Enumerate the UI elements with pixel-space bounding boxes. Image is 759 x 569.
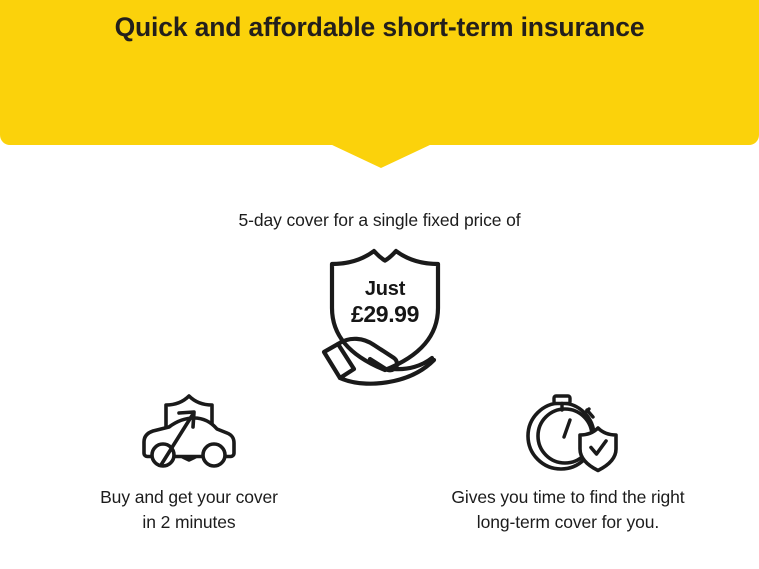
main-content: 5-day cover for a single fixed price of … (0, 145, 759, 569)
stopwatch-with-shield-check-icon (413, 385, 723, 477)
feature-left-label: Buy and get your cover in 2 minutes (34, 485, 344, 535)
hero-banner: buy Quick and affordable short-term insu… (0, 0, 759, 145)
shield-in-hand-icon (310, 248, 460, 393)
price-caption: 5-day cover for a single fixed price of (0, 210, 759, 231)
feature-item-long-term: Gives you time to find the right long-te… (413, 385, 723, 535)
feature-right-label: Gives you time to find the right long-te… (413, 485, 723, 535)
feature-left-line-2: in 2 minutes (34, 510, 344, 535)
feature-item-buy-cover: Buy and get your cover in 2 minutes (34, 385, 344, 535)
banner-title: Quick and affordable short-term insuranc… (0, 12, 759, 43)
feature-left-line-1: Buy and get your cover (34, 485, 344, 510)
car-with-shield-arrow-icon (34, 385, 344, 477)
feature-right-line-1: Gives you time to find the right (413, 485, 723, 510)
feature-right-line-2: long-term cover for you. (413, 510, 723, 535)
